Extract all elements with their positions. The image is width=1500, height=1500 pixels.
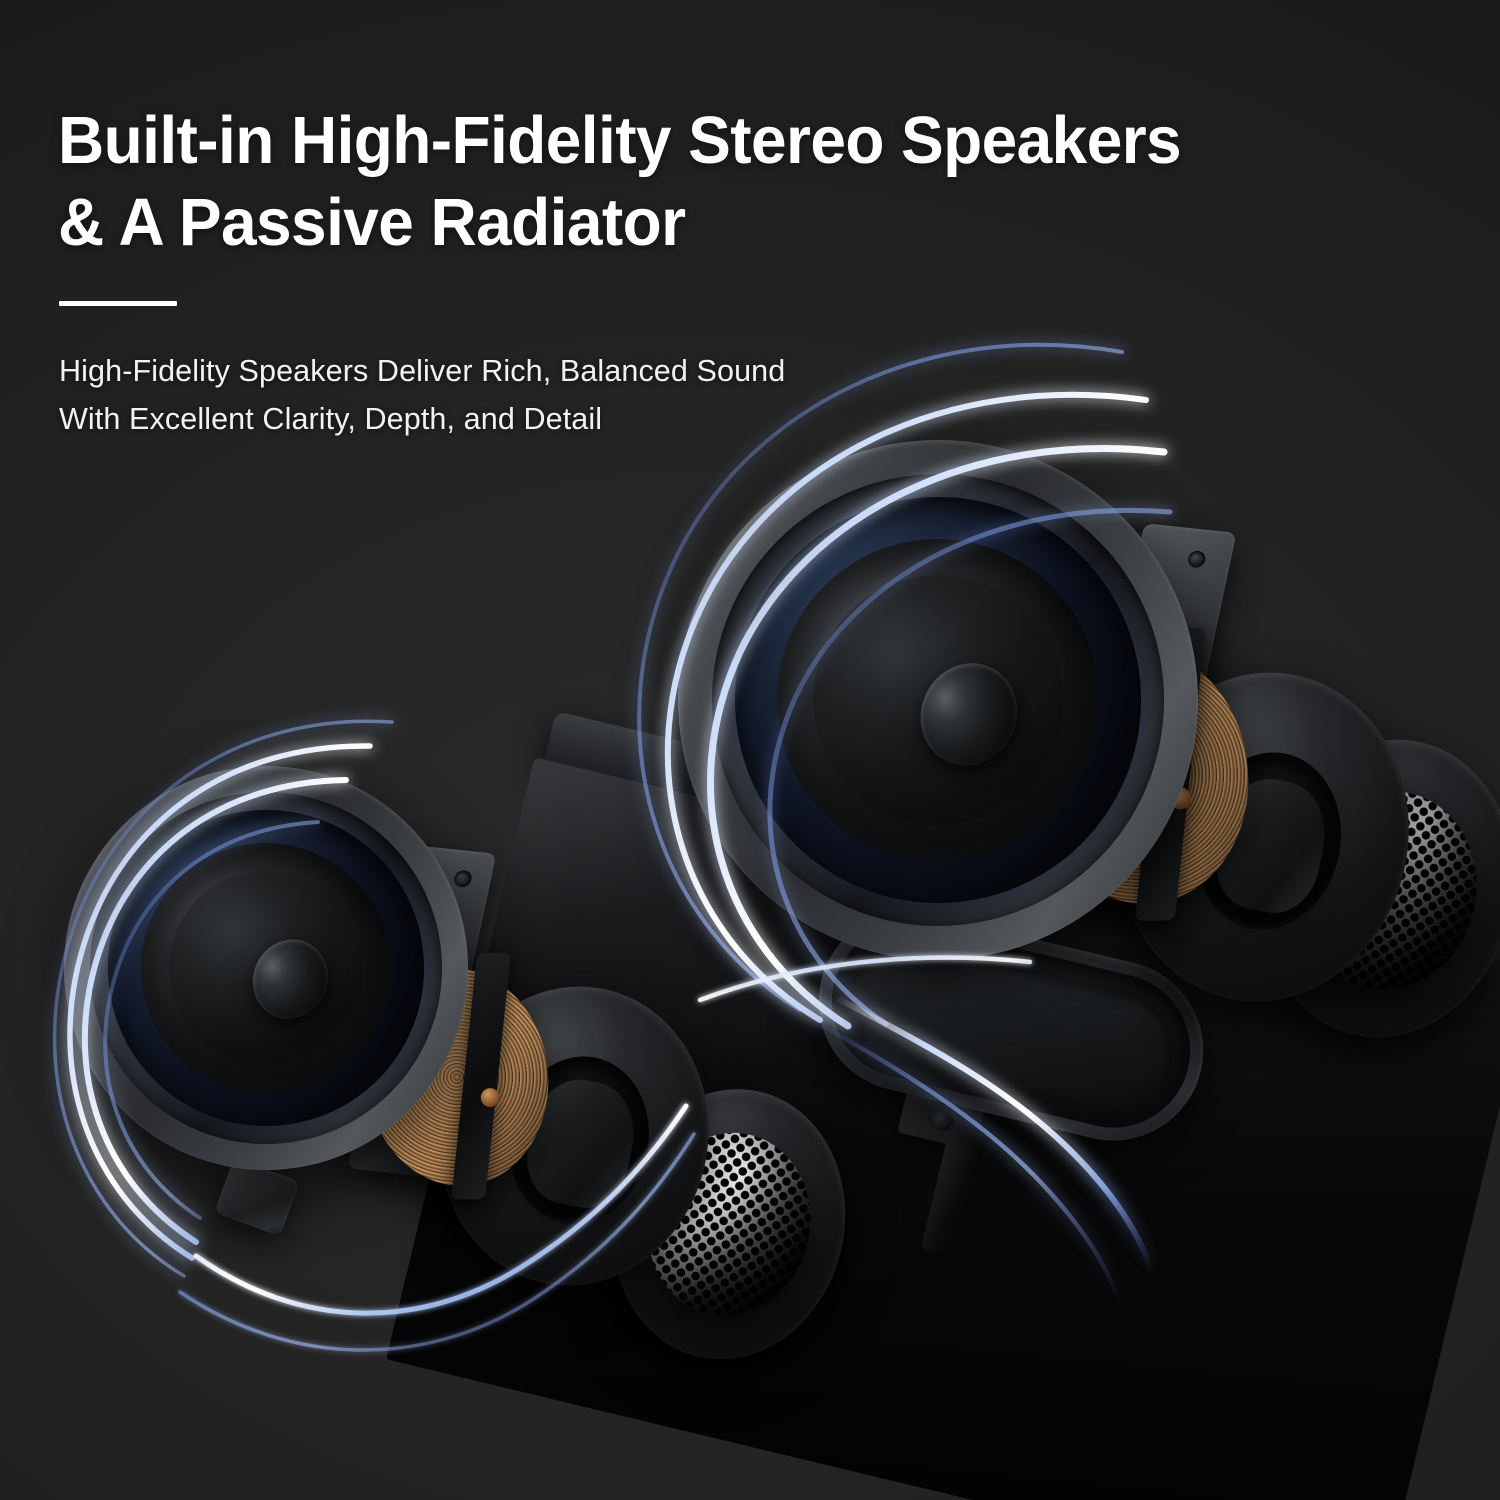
title-divider [59, 301, 177, 306]
text-block: Built-in High-Fidelity Stereo Speakers &… [58, 100, 1458, 443]
bracket-screw-hole [1186, 550, 1207, 568]
product-feature-banner: Built-in High-Fidelity Stereo Speakers &… [0, 0, 1500, 1500]
subtitle-text: High-Fidelity Speakers Deliver Rich, Bal… [59, 347, 1437, 443]
bracket-screw-hole [453, 870, 474, 888]
page-title: Built-in High-Fidelity Stereo Speakers &… [58, 100, 1395, 265]
